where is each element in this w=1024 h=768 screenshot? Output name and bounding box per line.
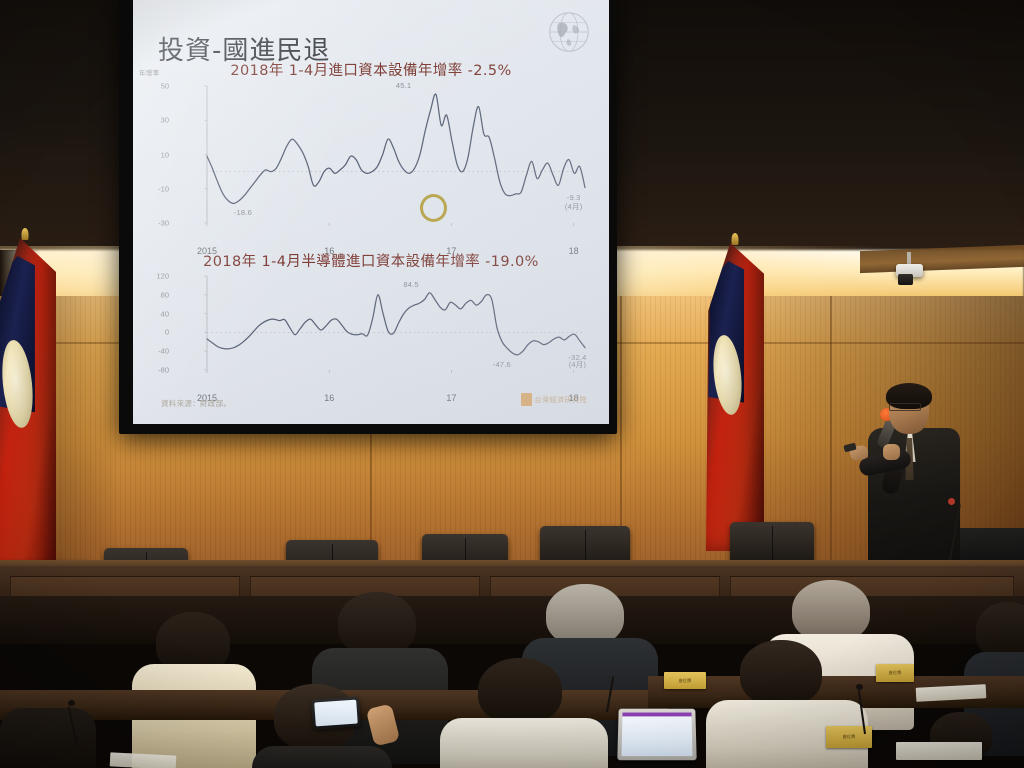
eyeglasses-icon: [889, 403, 921, 411]
flag-cloth: [706, 243, 764, 551]
audience-nameplate: 座位牌: [664, 672, 706, 689]
nameplate-text: 座位牌: [679, 679, 692, 683]
y-axis-tick: 50: [161, 82, 169, 91]
document-paper: [110, 752, 177, 768]
y-axis-tick: -80: [158, 366, 169, 375]
y-axis-tick: 10: [161, 150, 169, 159]
audience-body: [440, 718, 608, 768]
camera-lens: [898, 274, 913, 285]
audience-head: [792, 580, 870, 642]
chart-annotation: -47.6: [493, 360, 511, 369]
presentation-slide: 投資-國進民退 2018年 1-4月進口資本設備年增率 -2.5% 年增率 50…: [133, 0, 609, 424]
roc-flag-right: [706, 233, 764, 551]
y-axis-tick: -10: [158, 184, 169, 193]
audience-head: [546, 584, 624, 646]
x-axis-tick: 16: [324, 393, 334, 403]
logo-mark-icon: [521, 393, 532, 406]
audience-body: [252, 746, 392, 768]
chart-1-plot: [173, 78, 591, 243]
y-axis-tick: -40: [158, 347, 169, 356]
chart-annotation: -9.3: [567, 193, 581, 202]
smartphone: [311, 696, 361, 729]
smartphone-screen: [314, 700, 358, 727]
organization-logo: 台灣經濟研究院: [521, 393, 588, 406]
audience-member: [718, 640, 852, 768]
chart-annotation: 45.1: [396, 81, 411, 90]
flagpole-finial: [22, 228, 29, 240]
chart-1: 年增率 503010-10-30201516171845.1-18.6-9.3(…: [173, 78, 591, 243]
chart-highlight-ring: [420, 194, 447, 222]
laptop: [617, 709, 696, 761]
audience-member: [452, 658, 592, 768]
speaker-presenter: [856, 386, 966, 576]
y-axis-tick: 30: [161, 116, 169, 125]
laptop-screen: [621, 713, 692, 757]
roc-flag-left: [0, 228, 56, 578]
panel-chair: [730, 522, 814, 564]
chart-1-ylabel: 年增率: [139, 67, 159, 77]
x-axis-tick: 17: [446, 393, 456, 403]
document-paper: [896, 742, 982, 760]
mic-head: [856, 684, 863, 690]
chart-annotation: (4月): [569, 359, 586, 370]
security-camera-icon: [896, 252, 926, 288]
flagpole-finial: [732, 233, 739, 245]
source-note: 資料來源：財政部。: [161, 398, 231, 409]
audience-head: [478, 658, 562, 724]
audience-head: [740, 640, 822, 706]
y-axis-tick: 80: [161, 290, 169, 299]
y-axis-tick: 120: [156, 272, 169, 281]
logo-text: 台灣經濟研究院: [535, 395, 588, 405]
audience-body: [0, 708, 96, 768]
nameplate-text: 座位牌: [889, 671, 902, 675]
chart-2: 12080400-40-80201516171884.5-47.6-32.4(4…: [173, 268, 591, 390]
speaker-right-hand: [883, 444, 900, 460]
audience-head: [338, 592, 416, 656]
globe-icon: [547, 10, 591, 54]
audience-member: [0, 700, 96, 768]
podium-mic-head: [948, 498, 955, 505]
audience-nameplate: 座位牌: [876, 664, 914, 682]
chart-2-plot: [173, 268, 591, 390]
nameplate-text: 座位牌: [843, 735, 856, 739]
chart-1-title: 2018年 1-4月進口資本設備年增率 -2.5%: [133, 59, 609, 80]
chart-annotation: 84.5: [403, 280, 418, 289]
y-axis-tick: -30: [158, 218, 169, 227]
mic-head: [68, 700, 75, 706]
ceiling-right-section: [600, 0, 1024, 252]
chart-annotation: (4月): [565, 201, 582, 212]
chart-annotation: -18.6: [234, 208, 252, 217]
flag-cloth: [0, 238, 56, 578]
conference-hall-photo: 投資-國進民退 2018年 1-4月進口資本設備年增率 -2.5% 年增率 50…: [0, 0, 1024, 768]
y-axis-tick: 0: [165, 328, 169, 337]
projection-screen: 投資-國進民退 2018年 1-4月進口資本設備年增率 -2.5% 年增率 50…: [133, 0, 609, 424]
y-axis-tick: 40: [161, 309, 169, 318]
